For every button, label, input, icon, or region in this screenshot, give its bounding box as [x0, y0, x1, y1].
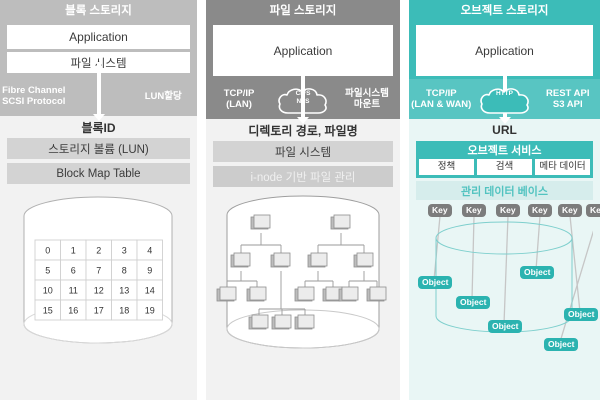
block-cell-number: 15: [43, 305, 53, 315]
folder-icon: [331, 215, 350, 229]
key-object-link: [472, 216, 474, 300]
block-cell-number: 4: [147, 245, 152, 255]
key-object-link: [504, 216, 508, 324]
service-cell-policy[interactable]: 정책: [419, 159, 474, 175]
management-database-box: 관리 데이터 베이스: [416, 181, 593, 200]
key-badge: Key: [586, 204, 600, 217]
folder-icon: [272, 315, 291, 329]
folder-icon: [271, 253, 290, 267]
protocol-band-file: TCP/IP (LAN) CIFS NFS 파일시스템 마운트: [206, 79, 400, 119]
protocol-right-label-file: 파일시스템 마운트: [334, 88, 400, 110]
object-badge: Object: [520, 266, 554, 279]
block-cell-number: 2: [96, 245, 101, 255]
object-service-cells: 정책 검색 메타 데이터: [419, 159, 590, 175]
key-badge: Key: [558, 204, 582, 217]
key-badge: Key: [496, 204, 520, 217]
flow-arrow-file: CIFS NFS: [272, 79, 334, 119]
protocol-band-object: TCP/IP (LAN & WAN) HTTP REST API S3 API: [409, 79, 600, 119]
cylinder-grid-svg: 012345678910111213141516171819: [7, 188, 190, 360]
protocol-right-label-object: REST API S3 API: [536, 88, 600, 110]
storage-comparison-diagram: 블록 스토리지 Application 파일 시스템 Fibre Channel…: [0, 0, 600, 400]
object-badge: Object: [488, 320, 522, 333]
key-badge: Key: [528, 204, 552, 217]
block-cell-number: 5: [45, 265, 50, 275]
block-cell-number: 19: [145, 305, 155, 315]
folder-icon: [295, 315, 314, 329]
column-object-storage: 오브젝트 스토리지 Application TCP/IP (LAN & WAN)…: [409, 0, 600, 400]
column-header-file: 파일 스토리지: [206, 0, 400, 22]
block-cell-number: 14: [145, 285, 155, 295]
block-cell-number: 12: [94, 285, 104, 295]
folder-icon: [247, 287, 266, 301]
protocol-left-label-file: TCP/IP (LAN): [206, 88, 272, 110]
block-cell-number: 6: [71, 265, 76, 275]
column-header-block: 블록 스토리지: [0, 0, 197, 22]
block-cell-number: 0: [45, 245, 50, 255]
key-object-link: [434, 216, 440, 280]
folder-icon: [367, 287, 386, 301]
service-cell-metadata[interactable]: 메타 데이터: [535, 159, 590, 175]
column-block-storage: 블록 스토리지 Application 파일 시스템 Fibre Channel…: [0, 0, 197, 400]
object-service-box: 오브젝트 서비스 정책 검색 메타 데이터: [416, 141, 593, 178]
protocol-left-label-block: Fibre Channel SCSI Protocol: [0, 85, 68, 107]
cloud-label-object: HTTP: [485, 90, 525, 98]
block-cell-number: 9: [147, 265, 152, 275]
flow-arrow-object: HTTP: [474, 79, 536, 119]
block-cell-number: 13: [119, 285, 129, 295]
block-cell-number: 8: [122, 265, 127, 275]
column-header-object: 오브젝트 스토리지: [409, 0, 600, 22]
block-cell-number: 3: [122, 245, 127, 255]
column-gap-1: [197, 0, 206, 400]
stack-block: 블록ID 스토리지 볼륨 (LUN) Block Map Table 01234…: [0, 116, 197, 400]
application-box-block: Application: [7, 25, 190, 49]
block-cell-number: 18: [119, 305, 129, 315]
key-badge: Key: [428, 204, 452, 217]
column-file-storage: 파일 스토리지 Application TCP/IP (LAN) CIFS NF…: [206, 0, 400, 400]
layer-box-file-system: 파일 시스템: [213, 141, 393, 162]
column-gap-2: [400, 0, 409, 400]
protocol-right-label-block: LUN할당: [130, 91, 198, 102]
block-cell-number: 17: [94, 305, 104, 315]
folder-icon: [308, 253, 327, 267]
object-badge: Object: [564, 308, 598, 321]
service-cell-search[interactable]: 검색: [477, 159, 532, 175]
art-object-cylinder-keys: KeyKeyKeyKeyKeyKey ObjectObjectObjectObj…: [416, 200, 593, 400]
folder-icon: [354, 253, 373, 267]
stack-file: 디렉토리 경로, 파일명 파일 시스템 i-node 기반 파일 관리: [206, 119, 400, 400]
block-cell-number: 10: [43, 285, 53, 295]
block-cell-number: 11: [69, 285, 78, 295]
object-service-title: 오브젝트 서비스: [419, 144, 590, 159]
art-file-cylinder-tree: [213, 191, 393, 400]
cloud-label-file: CIFS NFS: [283, 90, 323, 105]
layer-box-volume: 스토리지 볼륨 (LUN): [7, 138, 190, 159]
stack-object: URL 오브젝트 서비스 정책 검색 메타 데이터 관리 데이터 베이스 Key…: [409, 119, 600, 400]
art-block-cylinder-grid: 012345678910111213141516171819: [7, 188, 190, 400]
layer-box-inode: i-node 기반 파일 관리: [213, 166, 393, 187]
block-cell-number: 16: [68, 305, 78, 315]
folder-icon: [339, 287, 358, 301]
folder-icon: [251, 215, 270, 229]
block-cell-number: 1: [71, 245, 76, 255]
object-badge: Object: [418, 276, 452, 289]
object-badge: Object: [544, 338, 578, 351]
object-badge: Object: [456, 296, 490, 309]
folder-icon: [231, 253, 250, 267]
folder-icon: [249, 315, 268, 329]
folder-icon: [217, 287, 236, 301]
protocol-band-block: Fibre Channel SCSI Protocol LUN할당: [0, 76, 197, 116]
cylinder-folder-tree-svg: [213, 191, 393, 363]
flow-arrow-block: [68, 76, 130, 116]
block-cell-number: 7: [96, 265, 101, 275]
folder-icon: [295, 287, 314, 301]
key-badge: Key: [462, 204, 486, 217]
layer-box-block-map-table: Block Map Table: [7, 163, 190, 184]
protocol-left-label-object: TCP/IP (LAN & WAN): [409, 88, 474, 110]
